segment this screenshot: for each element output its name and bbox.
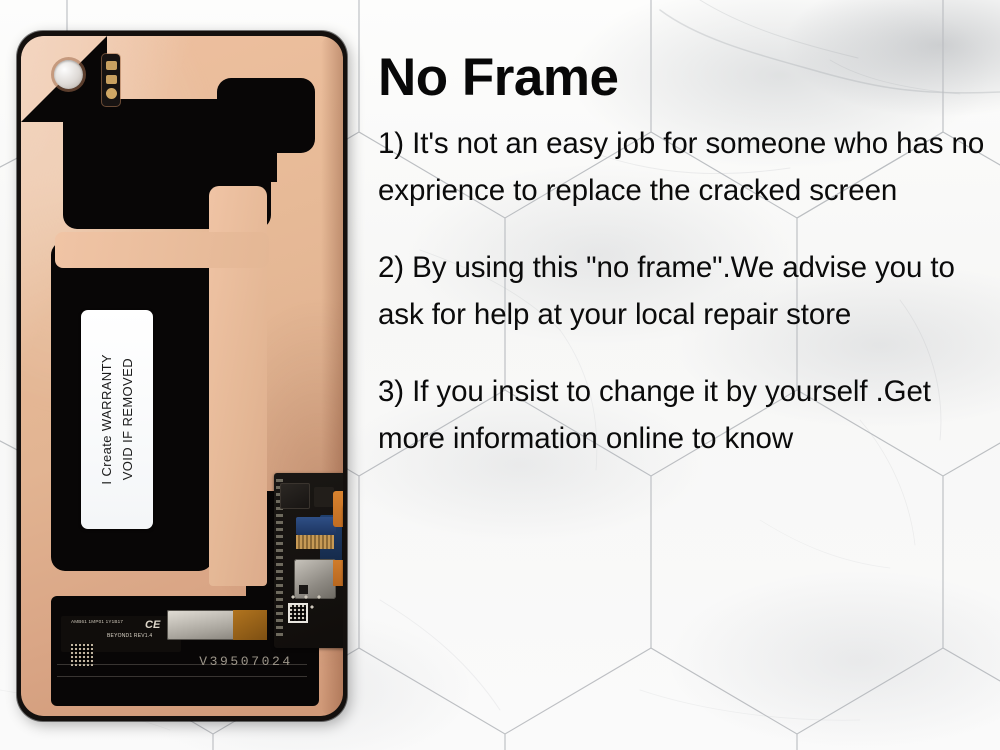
panel-etch-line-bottom [57,676,307,677]
instructions-panel: No Frame 1) It's not an easy job for som… [374,44,994,734]
driver-ic-chip [280,483,310,509]
product-listing-image: I Create WARRANTY VOID IF REMOVED BEYOND… [0,0,1000,750]
flex-cable-ribbon-upper [333,491,343,527]
panel-label-line1: AMB61 1MP01 1Y1B17 [71,620,141,634]
front-camera-hole [54,60,83,89]
ce-certification-mark: CE [145,619,160,631]
panel-cutout-bridge [217,132,277,182]
flex-cable-ribbon-lower [333,560,343,586]
panel-serial-number: V39507024 [161,654,331,669]
page-title: No Frame [378,50,994,106]
earpiece-speaker-module [167,610,267,640]
board-gold-traces [296,535,334,549]
board-qr-code [290,605,306,621]
instruction-item-3: 3) If you insist to change it by yoursel… [378,368,994,462]
instruction-item-2: 2) By using this "no frame".We advise yo… [378,244,994,338]
warranty-sticker-line1: I Create WARRANTY [99,354,114,485]
copper-arm-horizontal [55,232,269,268]
instruction-item-1: 1) It's not an easy job for someone who … [378,120,994,214]
driver-ic-chip-secondary [314,487,334,507]
panel-inner: I Create WARRANTY VOID IF REMOVED BEYOND… [21,36,343,716]
oled-display-panel: I Create WARRANTY VOID IF REMOVED BEYOND… [17,31,347,721]
warranty-sticker: I Create WARRANTY VOID IF REMOVED [81,310,153,529]
board-blue-connector [296,517,336,535]
warranty-sticker-line2: VOID IF REMOVED [120,358,135,480]
panel-label-qr-code [71,644,93,666]
sensor-contact-pads [102,54,120,106]
